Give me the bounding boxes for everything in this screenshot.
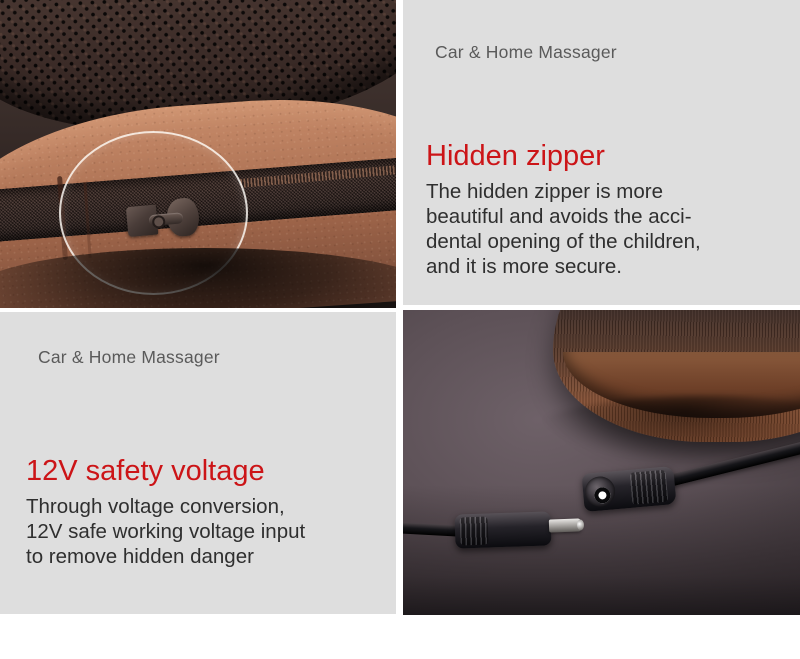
female-dc-jack-icon bbox=[582, 466, 677, 512]
hidden-zipper-text-panel: Car & Home Massager Hidden zipper The hi… bbox=[403, 0, 800, 305]
body-line: to remove hidden danger bbox=[26, 544, 305, 569]
body-line: 12V safe working voltage input bbox=[26, 519, 305, 544]
brand-eyebrow-bottom: Car & Home Massager bbox=[38, 347, 220, 368]
body-line: The hidden zipper is more bbox=[426, 179, 701, 204]
safety-voltage-headline: 12V safety voltage bbox=[26, 455, 265, 488]
safety-voltage-body: Through voltage conversion, 12V safe wor… bbox=[26, 494, 305, 569]
body-line: beautiful and avoids the acci- bbox=[426, 204, 701, 229]
product-feature-collage: Car & Home Massager Hidden zipper The hi… bbox=[0, 0, 800, 659]
male-dc-plug-icon bbox=[454, 511, 551, 548]
body-line: dental opening of the children, bbox=[426, 229, 701, 254]
cushion-drop-shadow bbox=[0, 248, 396, 308]
female-jack-socket bbox=[584, 475, 617, 508]
brand-eyebrow-top: Car & Home Massager bbox=[435, 42, 617, 63]
female-jack-hole bbox=[594, 487, 611, 504]
hidden-zipper-body: The hidden zipper is more beautiful and … bbox=[426, 179, 701, 279]
power-connector-photo bbox=[403, 310, 800, 615]
hidden-zipper-photo bbox=[0, 0, 396, 308]
body-line: and it is more secure. bbox=[426, 254, 701, 279]
body-line: Through voltage conversion, bbox=[26, 494, 305, 519]
hidden-zipper-headline: Hidden zipper bbox=[426, 140, 605, 173]
male-plug-pin bbox=[549, 518, 581, 532]
safety-voltage-text-panel: Car & Home Massager 12V safety voltage T… bbox=[0, 312, 396, 614]
